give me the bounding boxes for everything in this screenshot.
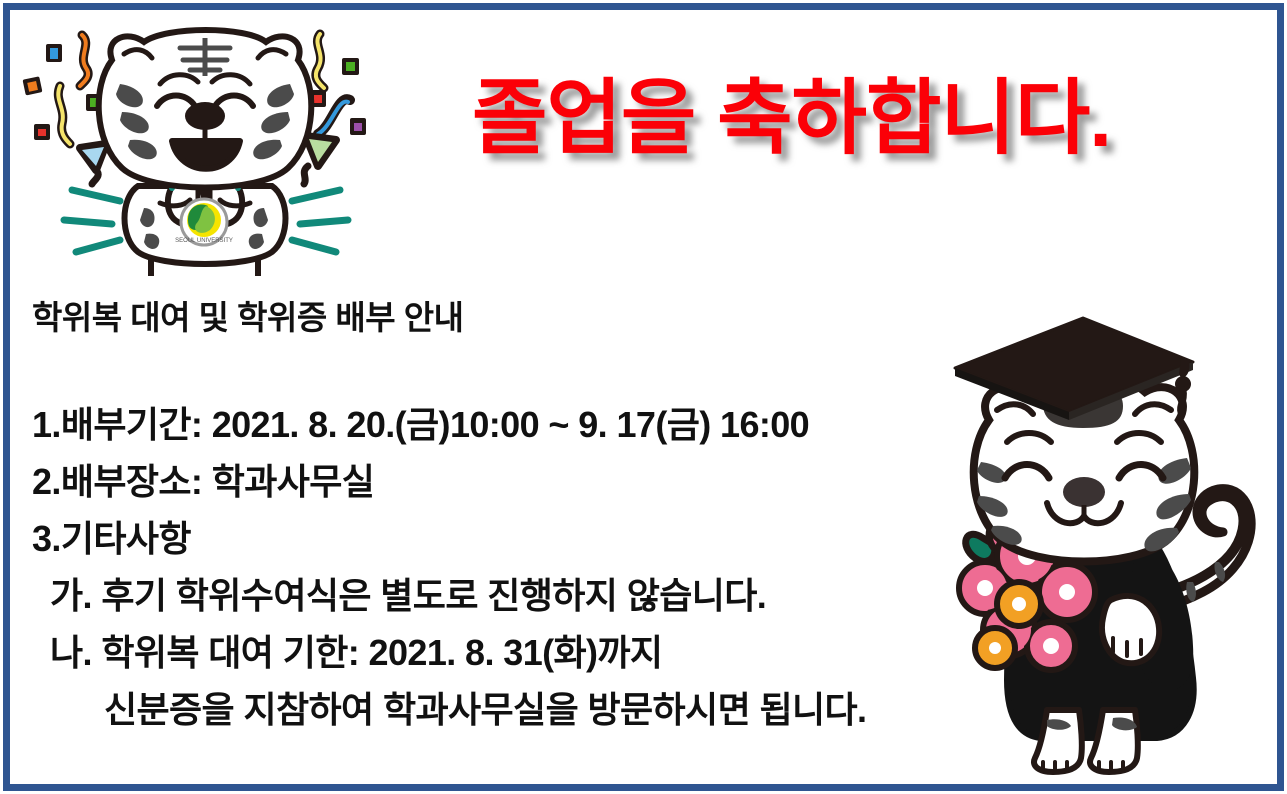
- page-title: 졸업을 축하합니다.: [472, 78, 1152, 160]
- notice-line-3: 3.기타사항: [32, 510, 992, 567]
- tiger-paw: [1102, 596, 1159, 663]
- clapping-tiger-body: SEOUL UNIVERSITY: [99, 30, 312, 276]
- poster-canvas: SEOUL UNIVERSITY: [0, 0, 1287, 794]
- svg-text:SEOUL UNIVERSITY: SEOUL UNIVERSITY: [175, 238, 233, 244]
- notice-subtitle: 학위복 대여 및 학위증 배부 안내: [32, 291, 464, 339]
- clapping-tiger-mascot: SEOUL UNIVERSITY: [20, 8, 390, 288]
- notice-line-4: 가. 후기 학위수여식은 별도로 진행하지 않습니다.: [32, 567, 992, 624]
- notice-line-5: 나. 학위복 대여 기한: 2021. 8. 31(화)까지: [32, 624, 992, 681]
- notice-line-1: 1.배부기간: 2021. 8. 20.(금)10:00 ~ 9. 17(금) …: [32, 396, 992, 453]
- poster-root: SEOUL UNIVERSITY: [0, 0, 1287, 794]
- notice-line-2: 2.배부장소: 학과사무실: [32, 453, 992, 510]
- notice-body: 1.배부기간: 2021. 8. 20.(금)10:00 ~ 9. 17(금) …: [32, 396, 992, 738]
- notice-line-6: 신분증을 지참하여 학과사무실을 방문하시면 됩니다.: [32, 681, 992, 738]
- graduate-tiger-mascot: [935, 300, 1280, 780]
